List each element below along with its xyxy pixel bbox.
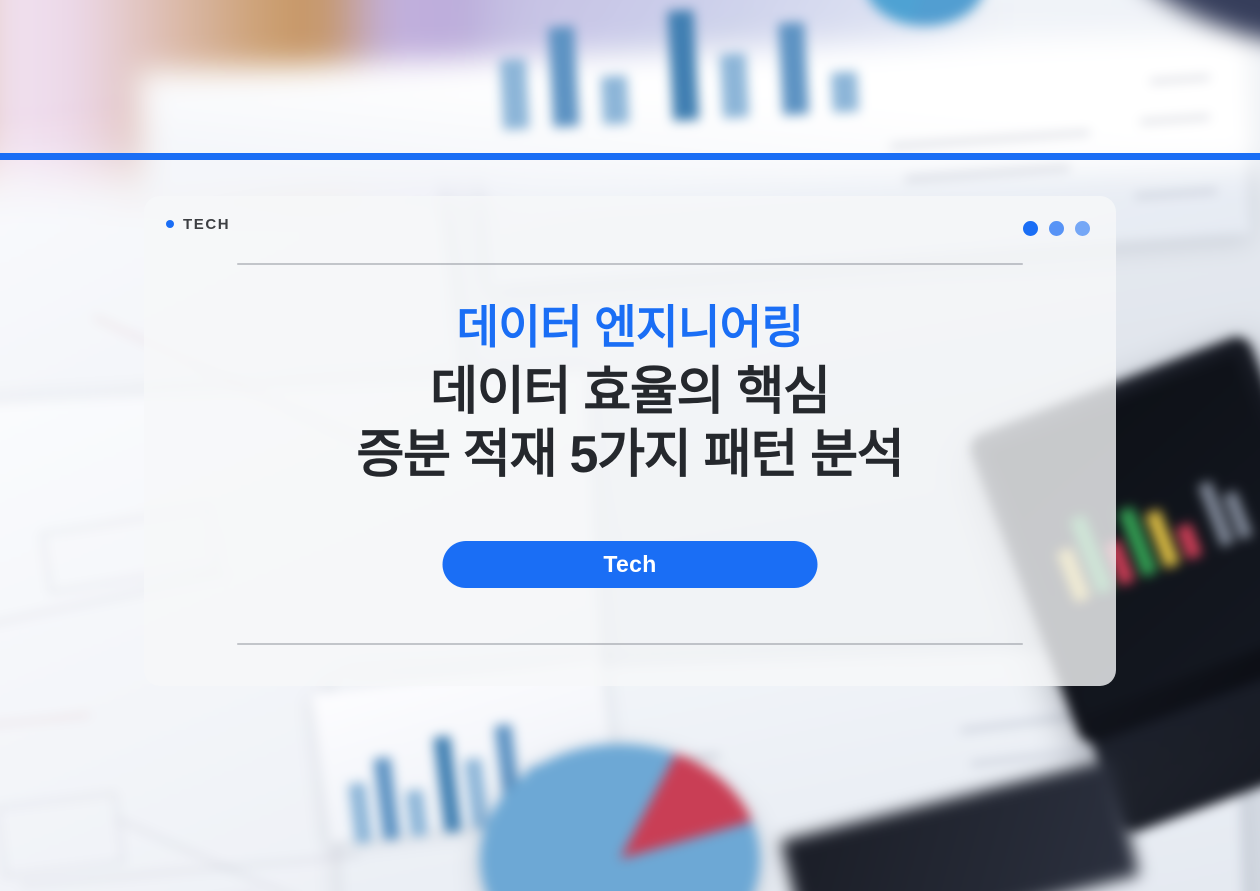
eyebrow: TECH	[166, 216, 230, 233]
dot-1	[1023, 221, 1038, 236]
background-sketch	[0, 793, 124, 877]
top-accent-rule	[0, 153, 1260, 160]
bullet-dot-icon	[166, 220, 174, 228]
tech-cta-button[interactable]: Tech	[443, 541, 818, 588]
dot-2	[1049, 221, 1064, 236]
eyebrow-label: TECH	[183, 216, 230, 233]
headline-kicker: 데이터 엔지니어링	[144, 300, 1116, 354]
headline-title-line-1: 데이터 효율의 핵심	[144, 360, 1116, 425]
divider-top	[237, 263, 1023, 265]
headline-title-line-2: 증분 적재 5가지 패턴 분석	[144, 423, 1116, 488]
three-dots-icon[interactable]	[1023, 221, 1090, 236]
content-card: TECH 데이터 엔지니어링 데이터 효율의 핵심 증분 적재 5가지 패턴 분…	[144, 196, 1116, 686]
headline-block: 데이터 엔지니어링 데이터 효율의 핵심 증분 적재 5가지 패턴 분석	[144, 300, 1116, 488]
dot-3	[1075, 221, 1090, 236]
divider-bottom	[237, 643, 1023, 645]
background-bar-chart	[477, 0, 903, 131]
